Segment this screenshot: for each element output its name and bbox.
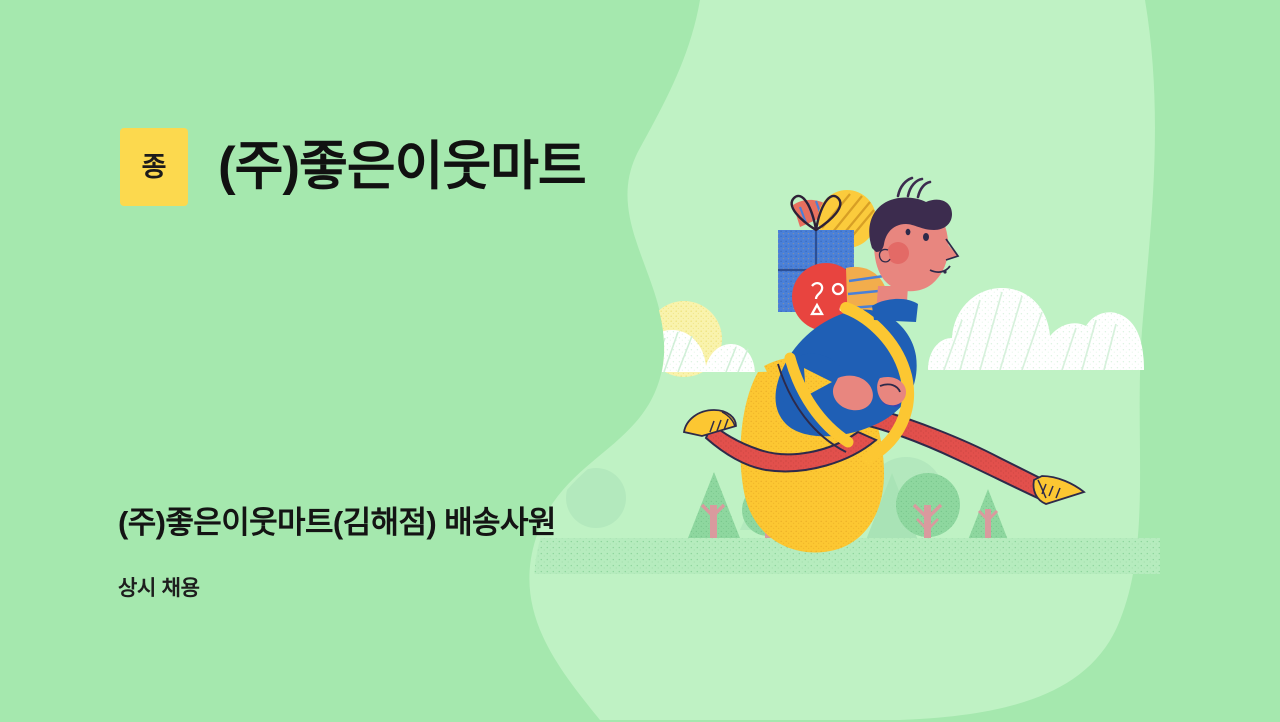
confetti-wedge bbox=[793, 200, 834, 227]
illustration-canvas bbox=[0, 0, 1280, 722]
ball-yellow bbox=[818, 190, 876, 248]
tree-round-2 bbox=[742, 484, 794, 540]
company-logo-badge-text: 종 bbox=[142, 154, 167, 181]
head bbox=[869, 178, 958, 291]
ground-strip bbox=[520, 538, 1160, 574]
company-logo-badge: 종 bbox=[120, 128, 188, 206]
tree-cone-4 bbox=[866, 473, 918, 540]
hands bbox=[833, 376, 906, 411]
tree-row bbox=[566, 455, 1008, 541]
background-blob bbox=[529, 0, 1155, 720]
neck bbox=[876, 286, 908, 318]
tree-cone-3 bbox=[804, 470, 858, 541]
ball-red bbox=[792, 263, 860, 331]
leg-back bbox=[684, 410, 876, 471]
job-title: (주)좋은이웃마트(김해점) 배송사원 bbox=[118, 497, 556, 542]
job-status-badge: 상시 채용 bbox=[118, 572, 200, 602]
background-fill bbox=[0, 0, 1280, 722]
tree-cone-6 bbox=[968, 489, 1008, 540]
ball-striped bbox=[846, 267, 889, 336]
shirt-collar bbox=[872, 299, 918, 322]
company-name: (주)좋은이웃마트 bbox=[218, 139, 586, 195]
leg-front bbox=[860, 408, 1084, 504]
company-header: 종 (주)좋은이웃마트 bbox=[120, 128, 586, 206]
cloud-right bbox=[928, 288, 1144, 370]
courier-figure bbox=[684, 178, 1084, 552]
torso-shirt bbox=[776, 310, 917, 437]
gift-box-blue bbox=[778, 196, 854, 312]
tree-round-5 bbox=[896, 473, 960, 540]
sun bbox=[646, 301, 722, 377]
cloud-left bbox=[636, 330, 755, 372]
tree-cone-1 bbox=[688, 472, 740, 540]
bag-strap bbox=[778, 308, 908, 458]
job-posting-banner: 종 (주)좋은이웃마트 (주)좋은이웃마트(김해점) 배송사원 상시 채용 bbox=[0, 0, 1280, 722]
delivery-sack bbox=[740, 356, 884, 553]
